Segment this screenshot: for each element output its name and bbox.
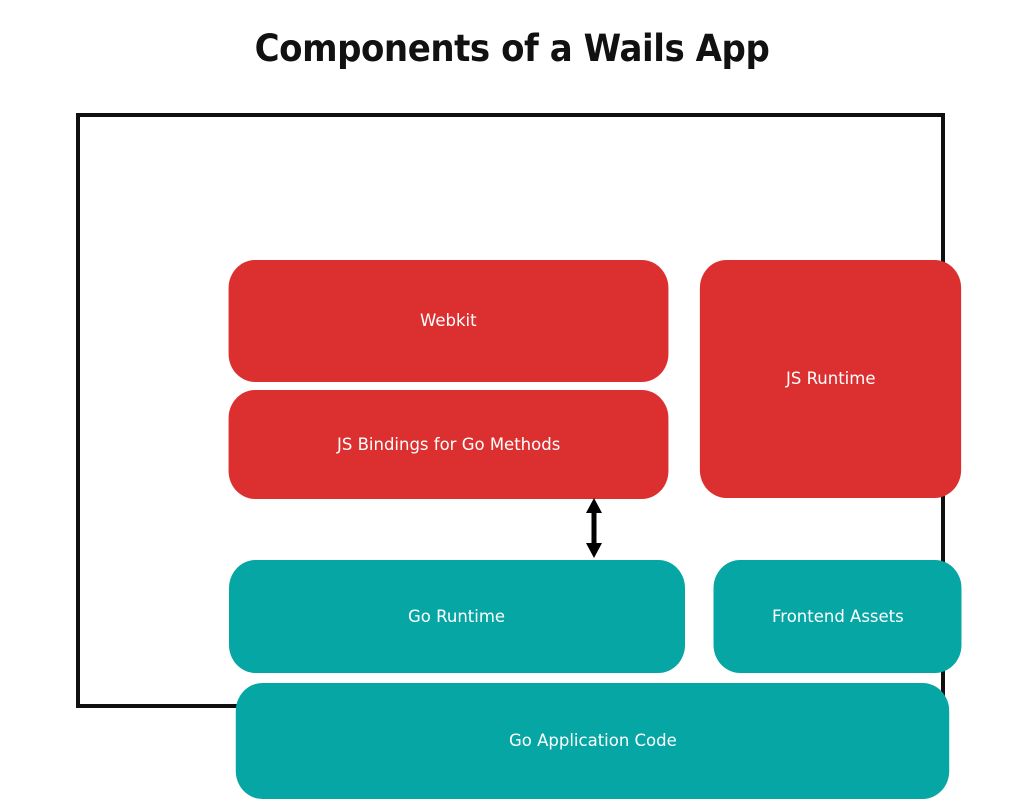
node-webkit-label: Webkit bbox=[420, 311, 477, 331]
node-go-runtime-label: Go Runtime bbox=[408, 607, 505, 627]
node-webkit[interactable]: Webkit bbox=[229, 260, 669, 382]
node-go-runtime[interactable]: Go Runtime bbox=[229, 560, 685, 673]
node-go-application-code[interactable]: Go Application Code bbox=[236, 683, 949, 799]
double-headed-arrow-icon bbox=[576, 498, 612, 558]
node-js-runtime-label: JS Runtime bbox=[786, 369, 876, 389]
node-frontend-assets-label: Frontend Assets bbox=[772, 607, 904, 627]
node-frontend-assets[interactable]: Frontend Assets bbox=[714, 560, 962, 673]
diagram-frame: Webkit JS Bindings for Go Methods JS Run… bbox=[76, 113, 945, 708]
node-js-runtime[interactable]: JS Runtime bbox=[700, 260, 961, 498]
node-js-bindings[interactable]: JS Bindings for Go Methods bbox=[229, 390, 669, 499]
node-go-application-code-label: Go Application Code bbox=[509, 731, 677, 751]
node-js-bindings-label: JS Bindings for Go Methods bbox=[337, 435, 560, 455]
page-title: Components of a Wails App bbox=[41, 27, 983, 70]
